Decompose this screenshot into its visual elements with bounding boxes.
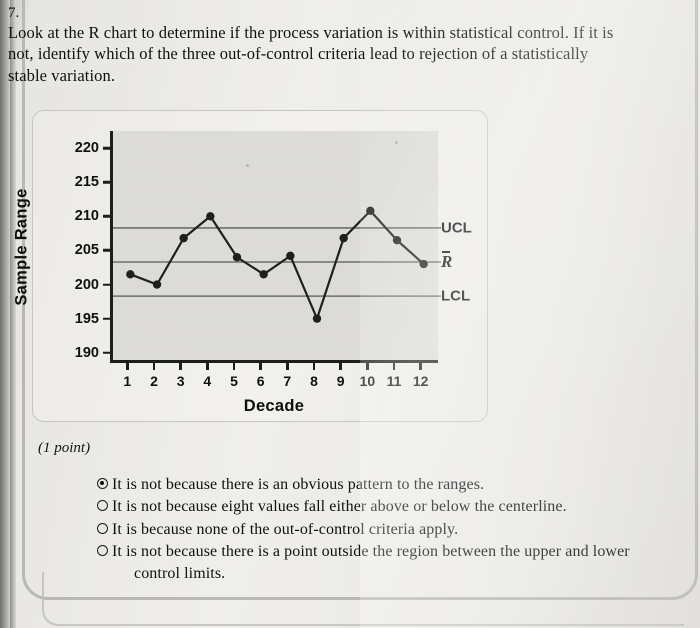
radio-button-d[interactable] bbox=[97, 545, 108, 556]
y-tick-mark bbox=[103, 147, 110, 150]
x-tick-label: 6 bbox=[257, 373, 265, 389]
question-number: 7. bbox=[8, 6, 692, 22]
answer-label-c: It is because none of the out-of-control… bbox=[112, 519, 458, 540]
x-tick-mark bbox=[393, 363, 396, 370]
x-tick-label: 12 bbox=[413, 373, 429, 389]
x-tick-label: 5 bbox=[230, 373, 238, 389]
answer-option-d[interactable]: It is not because there is a point outsi… bbox=[97, 541, 685, 584]
x-tick-label: 11 bbox=[387, 373, 402, 389]
plot-area bbox=[110, 131, 438, 363]
y-tick-label: 190 bbox=[75, 345, 99, 361]
question-line-1-text: Look at the R chart to determine if the … bbox=[8, 23, 613, 42]
y-tick-label: 205 bbox=[75, 242, 99, 258]
limit-label-lcl: LCL bbox=[441, 288, 470, 305]
x-tick-mark bbox=[366, 363, 369, 370]
x-tick-label: 8 bbox=[310, 373, 318, 389]
x-axis-title: Decade bbox=[244, 397, 305, 416]
data-point bbox=[339, 234, 347, 242]
x-tick-mark bbox=[126, 363, 129, 370]
limit-label-ucl: UCL bbox=[441, 219, 472, 236]
x-tick-label: 2 bbox=[150, 373, 158, 389]
y-tick-mark bbox=[103, 215, 110, 218]
y-tick-mark bbox=[103, 283, 110, 286]
photo-speck bbox=[395, 141, 398, 144]
data-point bbox=[126, 270, 134, 278]
answer-option-a[interactable]: It is not because there is an obvious pa… bbox=[97, 474, 685, 495]
y-tick-mark bbox=[103, 317, 110, 320]
question-line-2: not, identify which of the three out-of-… bbox=[8, 43, 692, 64]
question-block: 7. Look at the R chart to determine if t… bbox=[8, 6, 692, 86]
answer-option-c[interactable]: It is because none of the out-of-control… bbox=[97, 519, 685, 540]
answer-option-b[interactable]: It is not because eight values fall eith… bbox=[97, 496, 685, 517]
question-line-3-text: stable variation. bbox=[8, 66, 115, 85]
x-tick-label: 10 bbox=[360, 373, 376, 389]
data-point bbox=[366, 207, 374, 215]
limit-label-rbar: R bbox=[441, 252, 452, 272]
x-tick-label: 7 bbox=[283, 373, 291, 389]
x-tick-label: 9 bbox=[337, 373, 345, 389]
points-note: (1 point) bbox=[38, 440, 90, 457]
photo-bezel-left-inner bbox=[10, 0, 16, 628]
y-tick-mark bbox=[103, 249, 110, 252]
answer-label-a: It is not because there is an obvious pa… bbox=[112, 474, 484, 495]
answer-options[interactable]: It is not because there is an obvious pa… bbox=[97, 474, 685, 585]
x-tick-mark bbox=[313, 363, 316, 370]
y-tick-label: 220 bbox=[75, 140, 99, 156]
y-tick-label: 195 bbox=[75, 311, 99, 327]
y-tick-mark bbox=[103, 181, 110, 184]
answer-label-b: It is not because eight values fall eith… bbox=[112, 496, 567, 517]
x-tick-mark bbox=[179, 363, 182, 370]
radio-button-b[interactable] bbox=[97, 500, 108, 511]
question-line-2-text: not, identify which of the three out-of-… bbox=[8, 44, 588, 63]
y-tick-label: 215 bbox=[75, 174, 99, 190]
x-tick-mark bbox=[206, 363, 209, 370]
data-point bbox=[393, 236, 401, 244]
y-tick-mark bbox=[103, 352, 110, 355]
r-chart-plot bbox=[113, 131, 441, 363]
radio-button-c[interactable] bbox=[97, 523, 108, 534]
radio-button-a[interactable] bbox=[97, 478, 108, 489]
data-point bbox=[419, 260, 427, 268]
data-point bbox=[233, 253, 241, 261]
x-tick-label: 4 bbox=[203, 373, 211, 389]
photo-bezel-left bbox=[0, 0, 10, 628]
answer-label-d: It is not because there is a point outsi… bbox=[112, 541, 630, 584]
data-point bbox=[179, 234, 187, 242]
question-line-1: Look at the R chart to determine if the … bbox=[8, 22, 692, 43]
data-point bbox=[153, 280, 161, 288]
y-axis-title: Sample Range bbox=[13, 188, 32, 305]
x-tick-label: 1 bbox=[123, 373, 131, 389]
x-tick-label: 3 bbox=[177, 373, 185, 389]
x-tick-mark bbox=[419, 363, 422, 370]
data-point bbox=[206, 212, 214, 220]
r-bar-symbol: R bbox=[441, 252, 452, 272]
x-tick-mark bbox=[259, 363, 262, 370]
question-line-3: stable variation. bbox=[8, 65, 692, 86]
data-point bbox=[259, 270, 267, 278]
x-tick-mark bbox=[339, 363, 342, 370]
control-limit-lines bbox=[113, 228, 441, 296]
data-point bbox=[286, 252, 294, 260]
x-tick-mark bbox=[286, 363, 289, 370]
series-line bbox=[130, 211, 423, 319]
data-point bbox=[313, 314, 321, 322]
x-tick-mark bbox=[153, 363, 156, 370]
y-tick-label: 200 bbox=[75, 277, 99, 293]
answer-label-d-continued: control limits. bbox=[112, 563, 630, 584]
y-tick-label: 210 bbox=[75, 208, 99, 224]
limit-label-text: R bbox=[441, 252, 452, 271]
photo-speck bbox=[246, 164, 249, 167]
x-tick-mark bbox=[233, 363, 236, 370]
overbar bbox=[442, 251, 450, 253]
